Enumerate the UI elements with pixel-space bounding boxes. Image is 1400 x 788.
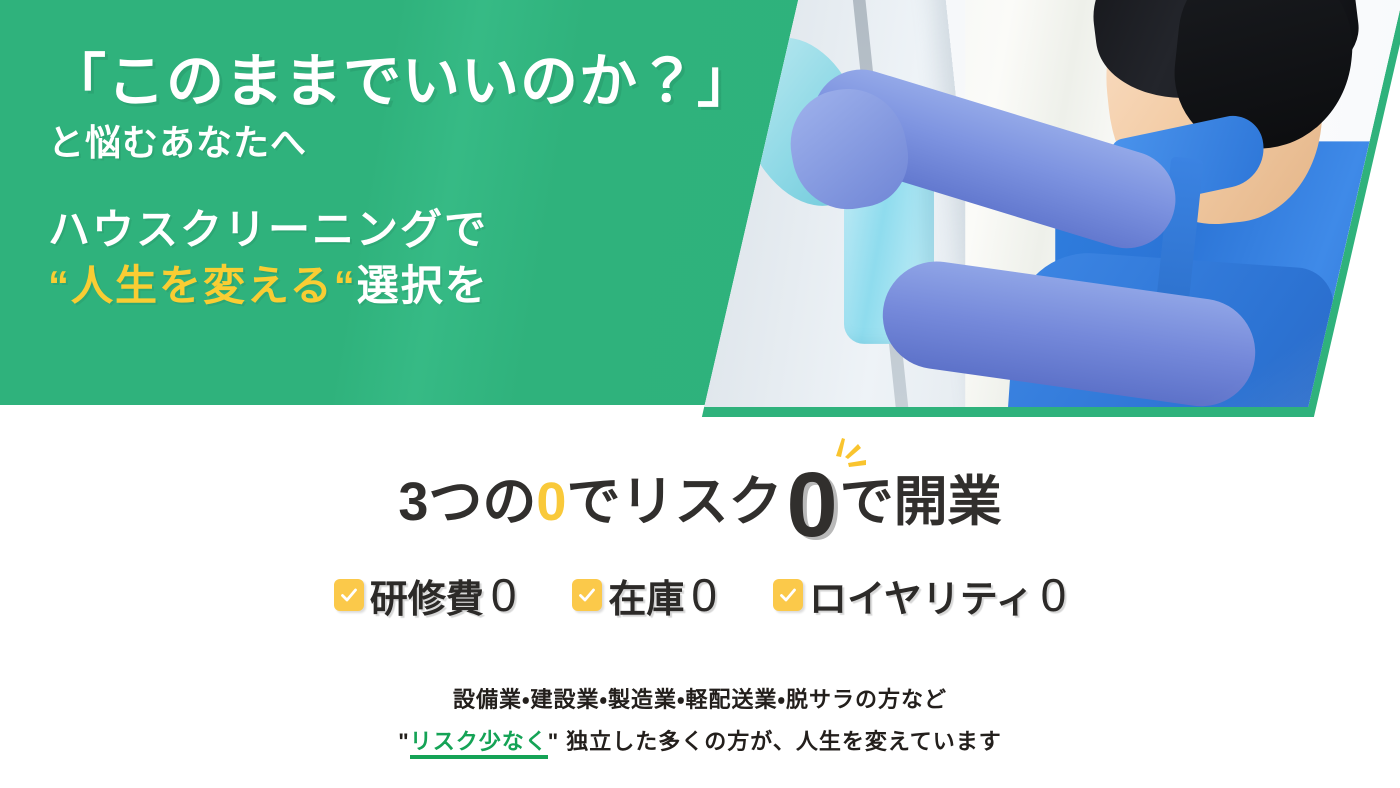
headline-zero-big: 0 <box>786 470 837 542</box>
hero-photo-frame <box>702 0 1400 417</box>
headline-part2: でリスク <box>566 472 782 532</box>
benefits-headline: 3つの0でリスク 0 で開業 <box>398 470 1001 542</box>
hero-tagline-line2: “人生を変える“選択を <box>48 258 756 313</box>
headline-zero-small: 0 <box>536 472 566 532</box>
benefit-check-item: 研修費 0 <box>334 568 517 623</box>
benefit-check-item: ロイヤリティ 0 <box>773 568 1066 623</box>
benefit-check-label: 研修費 <box>370 568 484 623</box>
tagline-accent-text: 人生を変える <box>71 262 334 309</box>
tagline-quote-close: “ <box>334 262 357 309</box>
benefits-subtext-block: 設備業・建設業・製造業・軽配送業・脱サラの方など "リスク少なく" 独立した多く… <box>0 679 1400 763</box>
check-icon <box>572 579 602 611</box>
hero-headline-sub: と悩むあなたへ <box>48 121 756 164</box>
tagline-tail-text: 選択を <box>357 262 489 309</box>
hero-text-block: 「このままでいいのか？」 と悩むあなたへ ハウスクリーニングで “人生を変える“… <box>48 50 756 313</box>
benefit-check-label: 在庫 <box>608 568 684 623</box>
subtext-quote-open: " <box>398 729 409 754</box>
check-icon <box>773 579 803 611</box>
hero-section: 「このままでいいのか？」 と悩むあなたへ ハウスクリーニングで “人生を変える“… <box>0 0 1400 430</box>
benefit-check-list: 研修費 0 在庫 0 ロイヤリティ 0 <box>0 568 1400 623</box>
headline-zero-big-text: 0 <box>786 454 837 556</box>
benefits-subtext-line2: "リスク少なく" 独立した多くの方が、人生を変えています <box>0 721 1400 763</box>
headline-part3: で開業 <box>840 472 1002 532</box>
benefits-section: 3つの0でリスク 0 で開業 研修費 0 <box>0 430 1400 762</box>
benefit-check-label: ロイヤリティ <box>809 568 1034 623</box>
subtext-tail-text: 独立した多くの方が、人生を変えています <box>559 729 1002 754</box>
benefit-check-zero: 0 <box>691 568 717 622</box>
hero-headline-quoted: 「このままでいいのか？」 <box>48 50 756 115</box>
subtext-quote-close: " <box>548 729 559 754</box>
benefit-check-item: 在庫 0 <box>572 568 717 623</box>
tagline-quote-open: “ <box>48 262 71 309</box>
subtext-accent-text: リスク少なく <box>410 729 548 759</box>
hero-photo <box>704 0 1400 407</box>
hero-tagline-line1: ハウスクリーニングで <box>48 202 756 257</box>
window-cleaning-worker-photo <box>704 0 1400 407</box>
benefit-check-zero: 0 <box>491 568 517 622</box>
check-icon <box>334 579 364 611</box>
benefits-subtext-line1: 設備業・建設業・製造業・軽配送業・脱サラの方など <box>0 679 1400 721</box>
benefit-check-zero: 0 <box>1041 568 1067 622</box>
headline-part1: 3つの <box>398 472 536 532</box>
